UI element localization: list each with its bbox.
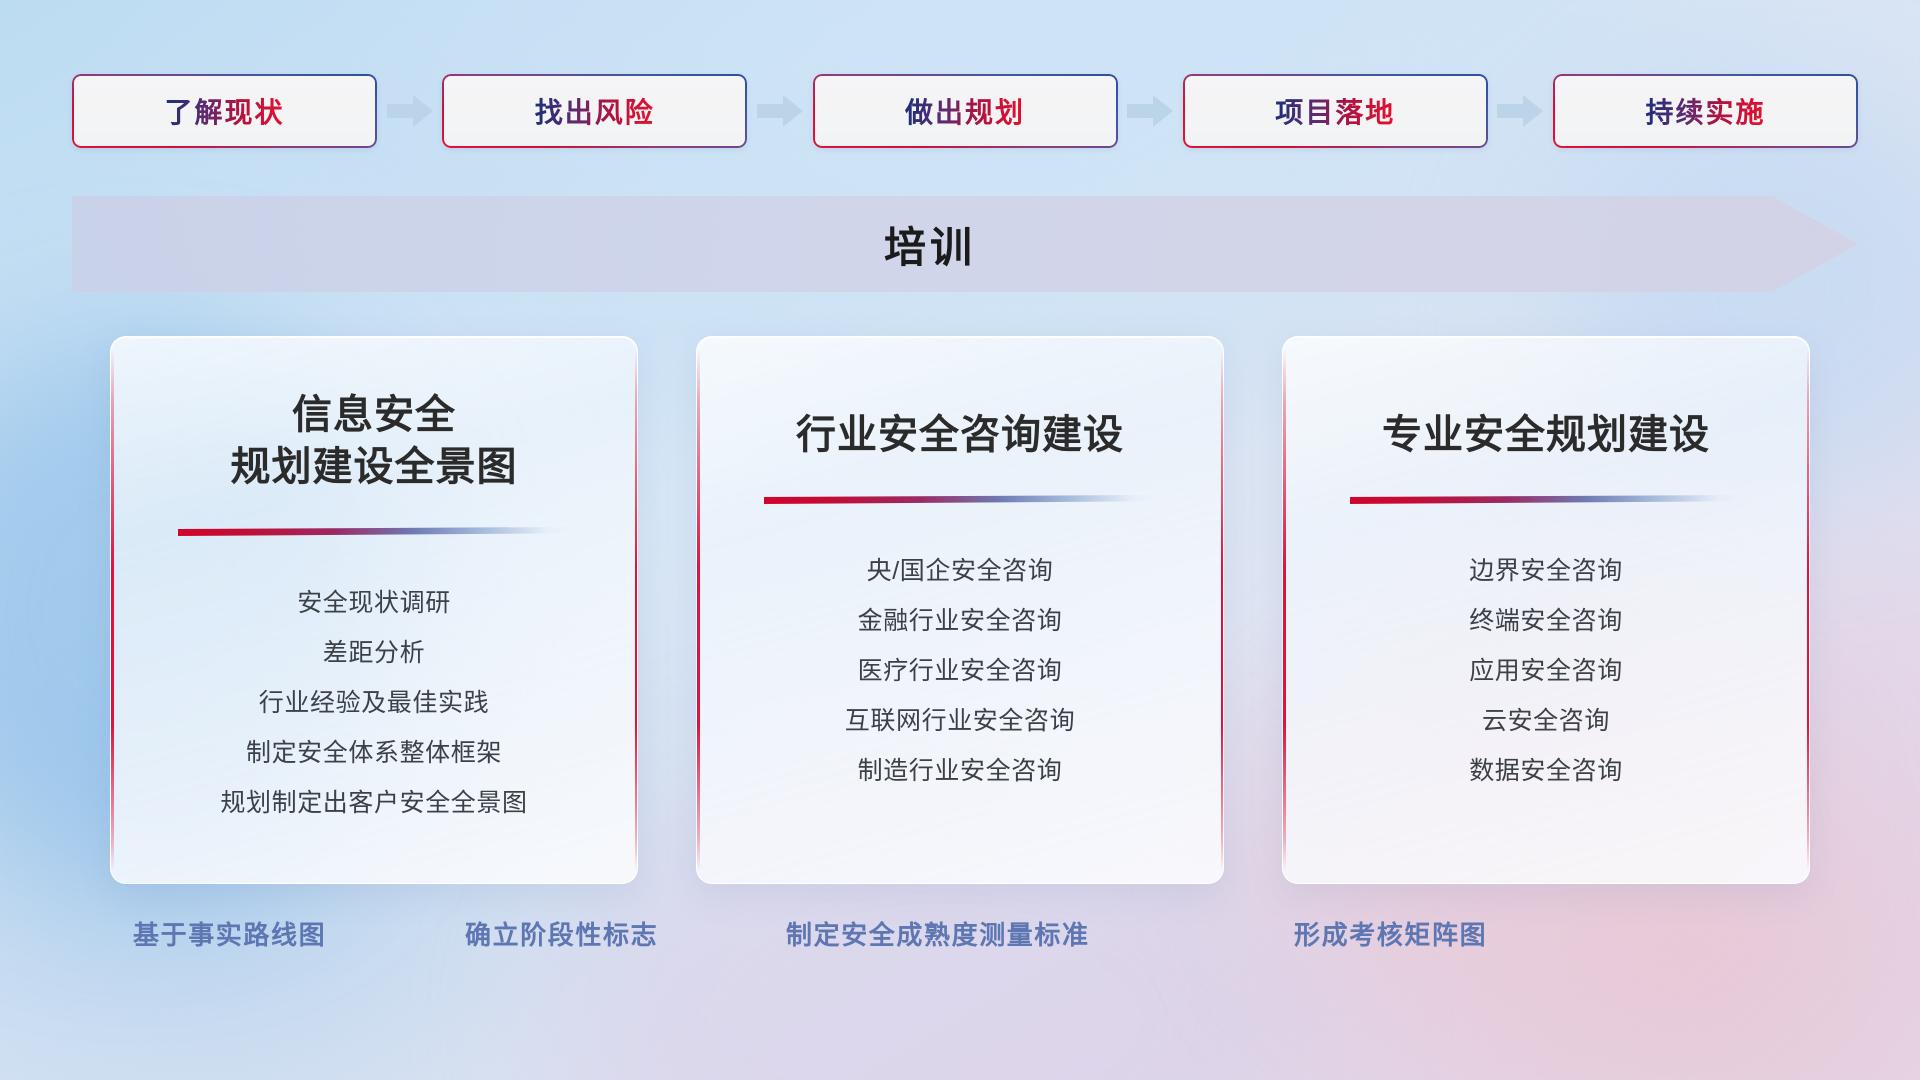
footer-label-1: 基于事实路线图 — [133, 915, 326, 952]
card-right-accent — [1221, 349, 1224, 871]
card-title: 行业安全咨询建设 — [731, 409, 1189, 461]
flow-step-label: 项目落地 — [1275, 91, 1395, 131]
card-item-list: 安全现状调研 差距分析 行业经验及最佳实践 制定安全体系整体框架 规划制定出客户… — [111, 578, 637, 828]
list-item: 央/国企安全咨询 — [867, 546, 1054, 596]
service-card-1[interactable]: 信息安全 规划建设全景图 安全现状调研 差距分析 行业经验及最佳实践 制定安全体… — [110, 336, 638, 884]
process-flow-row: 了解现状 找出风险 做出规划 项目落地 持续实施 — [72, 72, 1858, 150]
flow-step-label: 找出风险 — [535, 91, 655, 131]
footer-label-3: 制定安全成熟度测量标准 — [786, 915, 1090, 952]
card-item-list: 央/国企安全咨询 金融行业安全咨询 医疗行业安全咨询 互联网行业安全咨询 制造行… — [697, 546, 1223, 796]
list-item: 规划制定出客户安全全景图 — [220, 778, 527, 828]
list-item: 数据安全咨询 — [1469, 746, 1623, 796]
footer-label-2: 确立阶段性标志 — [465, 915, 658, 952]
flow-step-label: 持续实施 — [1645, 91, 1765, 131]
flow-step-2[interactable]: 找出风险 — [442, 74, 747, 148]
card-title: 专业安全规划建设 — [1317, 409, 1775, 461]
right-arrow-icon — [387, 94, 433, 128]
flow-step-3[interactable]: 做出规划 — [813, 74, 1118, 148]
card-title: 信息安全 规划建设全景图 — [145, 389, 603, 493]
service-cards-row: 信息安全 规划建设全景图 安全现状调研 差距分析 行业经验及最佳实践 制定安全体… — [110, 336, 1810, 884]
list-item: 差距分析 — [323, 628, 425, 678]
training-banner: 培训 — [72, 196, 1858, 292]
list-item: 制定安全体系整体框架 — [246, 728, 502, 778]
right-arrow-icon — [1497, 94, 1543, 128]
flow-step-1[interactable]: 了解现状 — [72, 74, 377, 148]
flow-step-label: 做出规划 — [905, 91, 1025, 131]
footer-label-row: 基于事实路线图 确立阶段性标志 制定安全成熟度测量标准 形成考核矩阵图 — [0, 915, 1920, 967]
right-arrow-icon — [757, 94, 803, 128]
list-item: 制造行业安全咨询 — [858, 746, 1063, 796]
card-divider — [764, 495, 1156, 504]
list-item: 行业经验及最佳实践 — [259, 678, 489, 728]
footer-label-4: 形成考核矩阵图 — [1294, 915, 1487, 952]
service-card-3[interactable]: 专业安全规划建设 边界安全咨询 终端安全咨询 应用安全咨询 云安全咨询 数据安全… — [1282, 336, 1810, 884]
banner-title: 培训 — [72, 196, 1858, 292]
flow-step-5[interactable]: 持续实施 — [1553, 74, 1858, 148]
card-right-accent — [635, 349, 638, 871]
card-left-accent — [111, 349, 114, 871]
card-right-accent — [1807, 349, 1810, 871]
list-item: 互联网行业安全咨询 — [845, 696, 1075, 746]
card-left-accent — [697, 349, 700, 871]
list-item: 金融行业安全咨询 — [858, 596, 1063, 646]
right-arrow-icon — [1127, 94, 1173, 128]
card-divider — [1350, 495, 1742, 504]
list-item: 云安全咨询 — [1482, 696, 1610, 746]
service-card-2[interactable]: 行业安全咨询建设 央/国企安全咨询 金融行业安全咨询 医疗行业安全咨询 互联网行… — [696, 336, 1224, 884]
flow-step-4[interactable]: 项目落地 — [1183, 74, 1488, 148]
list-item: 应用安全咨询 — [1469, 646, 1623, 696]
list-item: 终端安全咨询 — [1469, 596, 1623, 646]
card-divider — [178, 527, 570, 536]
list-item: 医疗行业安全咨询 — [858, 646, 1063, 696]
card-left-accent — [1283, 349, 1286, 871]
flow-step-label: 了解现状 — [164, 91, 284, 131]
card-item-list: 边界安全咨询 终端安全咨询 应用安全咨询 云安全咨询 数据安全咨询 — [1283, 546, 1809, 796]
list-item: 边界安全咨询 — [1469, 546, 1623, 596]
list-item: 安全现状调研 — [297, 578, 451, 628]
